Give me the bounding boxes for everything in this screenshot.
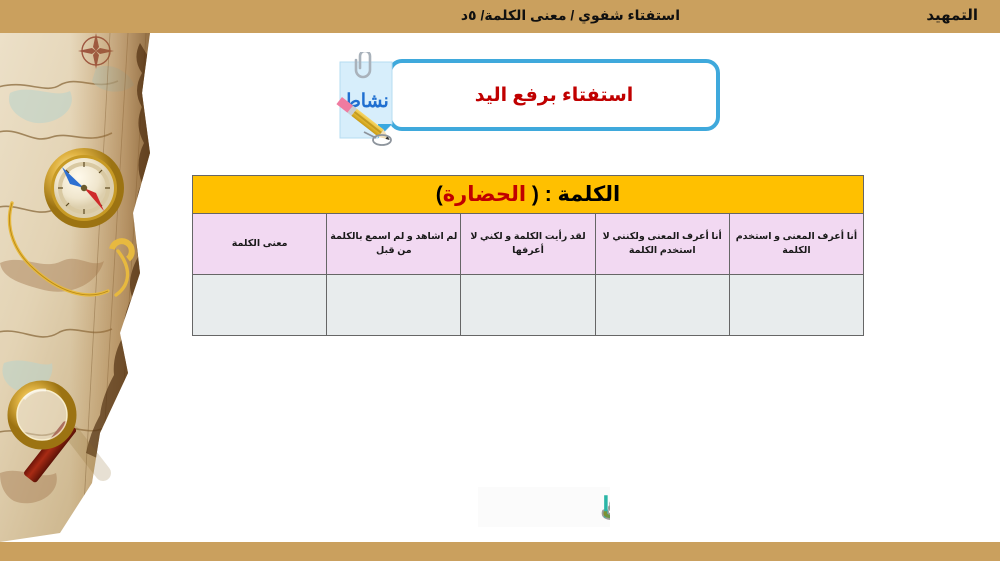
top-header-bar: التمهيد استفتاء شفوي / معنى الكلمة/ ٥د xyxy=(0,0,1000,33)
activity-banner-label: استفتاء برفع اليد xyxy=(475,84,634,107)
answer-cell-5[interactable] xyxy=(193,275,327,336)
answer-cell-2[interactable] xyxy=(595,275,729,336)
table-title-row: الكلمة : ( الحضارة) xyxy=(193,176,864,214)
raise-your-hand-logo: ارفع يدك ا ارفع يدك xyxy=(478,487,610,527)
table-title-prefix: الكلمة : ( xyxy=(526,183,620,206)
header-section-title: التمهيد xyxy=(926,6,978,24)
column-header-1: أنا أعرف المعنى و استخدم الكلمة xyxy=(729,214,863,275)
column-header-2: أنا أعرف المعنى ولكنني لا استخدم الكلمة xyxy=(595,214,729,275)
table-body-row xyxy=(193,275,864,336)
answer-cell-1[interactable] xyxy=(729,275,863,336)
antique-map-icon xyxy=(0,33,172,542)
column-header-5: معنى الكلمة xyxy=(193,214,327,275)
answer-cell-3[interactable] xyxy=(461,275,595,336)
word-survey-table: الكلمة : ( الحضارة) أنا أعرف المعنى و اس… xyxy=(192,175,864,336)
svg-text:ارفع يدك: ارفع يدك xyxy=(602,492,610,525)
bottom-footer-bar xyxy=(0,542,1000,561)
column-header-3: لقد رأيت الكلمة و لكني لا أعرفها xyxy=(461,214,595,275)
table-title-word: الحضارة xyxy=(443,183,526,206)
table-header-row: أنا أعرف المعنى و استخدم الكلمة أنا أعرف… xyxy=(193,214,864,275)
sticky-note-pencil-icon: نشاط xyxy=(326,52,404,148)
answer-cell-4[interactable] xyxy=(327,275,461,336)
activity-callout: استفتاء برفع اليد xyxy=(326,52,726,148)
table-title-cell: الكلمة : ( الحضارة) xyxy=(193,176,864,214)
activity-banner: استفتاء برفع اليد xyxy=(388,59,720,131)
table-title-suffix: ) xyxy=(436,183,443,206)
header-activity-title: استفتاء شفوي / معنى الكلمة/ ٥د xyxy=(461,7,680,24)
column-header-4: لم اشاهد و لم اسمع بالكلمة من قبل xyxy=(327,214,461,275)
slide-canvas: التمهيد استفتاء شفوي / معنى الكلمة/ ٥د xyxy=(0,0,1000,561)
